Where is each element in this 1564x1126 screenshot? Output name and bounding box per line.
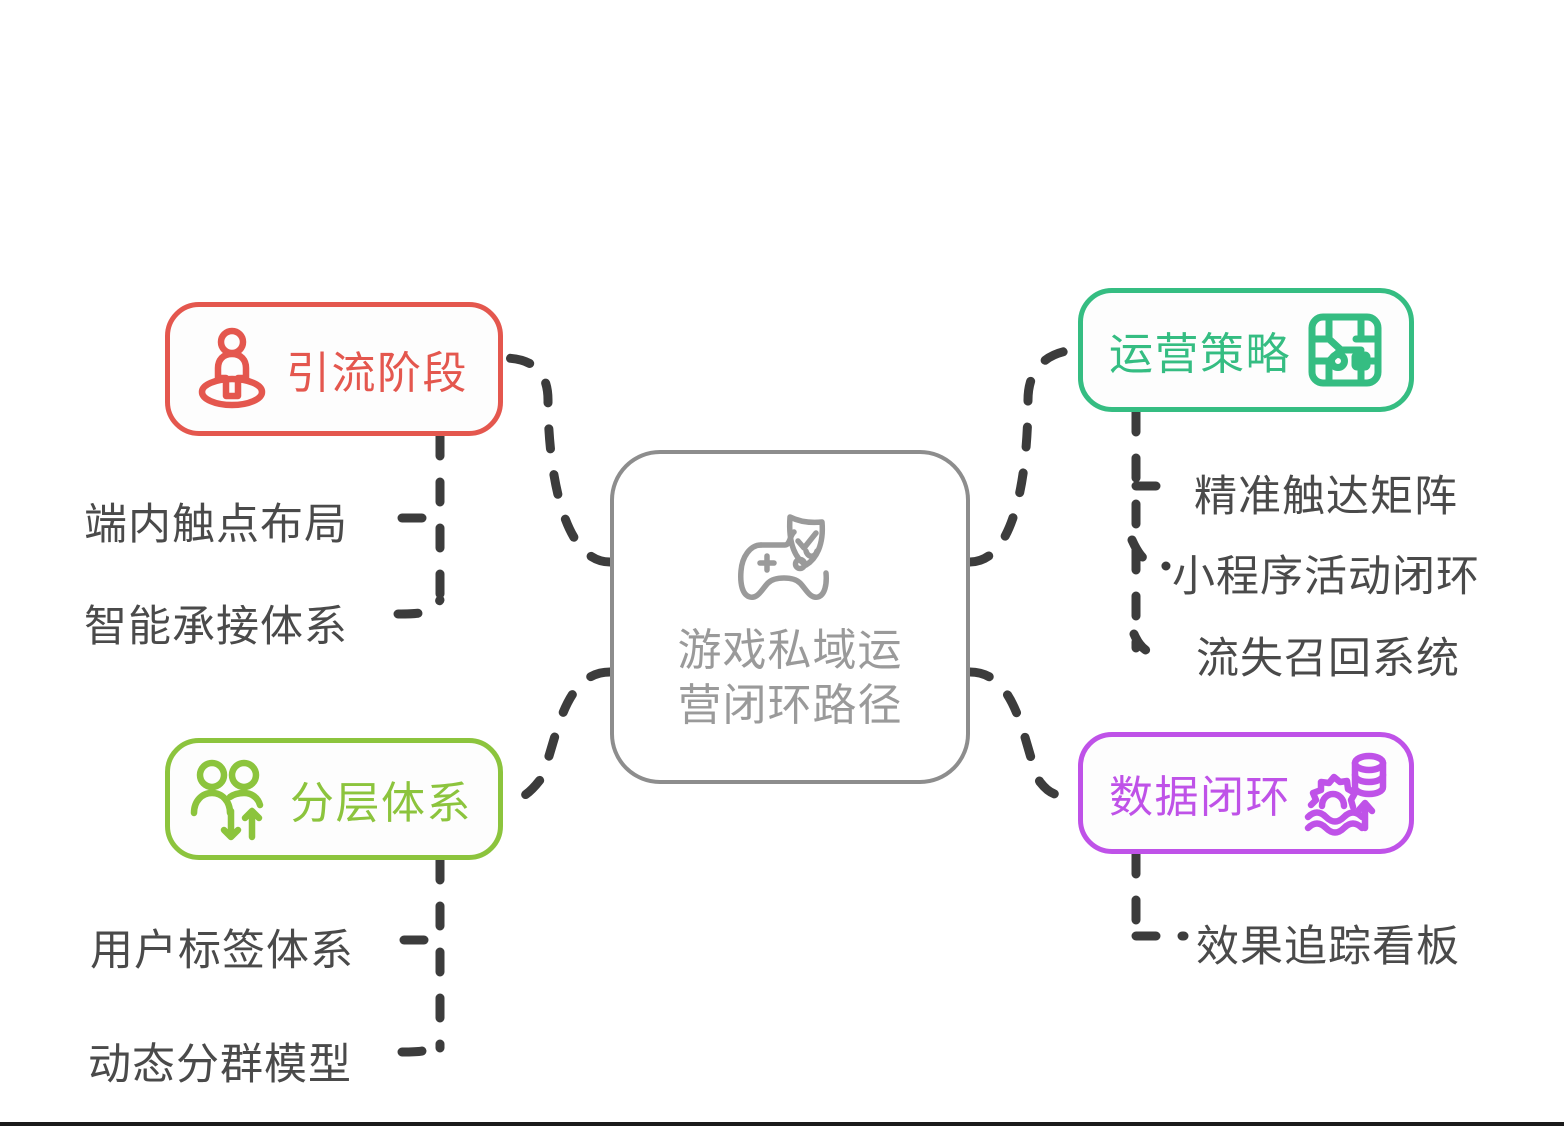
stub-tier-leaf-2 — [402, 1036, 441, 1052]
leaf-label[interactable]: 端内触点布局 — [84, 490, 348, 552]
connector-center-to-tier — [503, 672, 610, 800]
branch-node-data-label: 数据闭环 — [1109, 761, 1291, 825]
person-location-pin-icon — [192, 326, 272, 412]
branch-node-ops[interactable]: 运营策略 — [1078, 288, 1414, 412]
gamepad-shield-check-icon — [728, 501, 852, 618]
mindmap-canvas: 游戏私域运 营闭环路径 引流阶段 分层体系 运营策略 — [0, 0, 1564, 1126]
branch-node-tier[interactable]: 分层体系 — [165, 738, 503, 860]
leaf-label[interactable]: 小程序活动闭环 — [1172, 542, 1480, 604]
database-growth-arrow-icon — [1303, 750, 1391, 836]
center-node[interactable]: 游戏私域运 营闭环路径 — [610, 450, 970, 784]
branch-node-data[interactable]: 数据闭环 — [1078, 732, 1414, 854]
connector-center-to-ops — [970, 350, 1078, 562]
stub-traffic-leaf-2 — [398, 600, 440, 614]
users-sort-arrows-icon — [190, 757, 276, 841]
branch-node-traffic-label: 引流阶段 — [286, 337, 468, 401]
leaf-label[interactable]: 精准触达矩阵 — [1194, 462, 1458, 524]
branch-node-traffic[interactable]: 引流阶段 — [165, 302, 503, 436]
leaf-label[interactable]: 效果追踪看板 — [1196, 912, 1460, 974]
leaf-label[interactable]: 用户标签体系 — [90, 916, 354, 978]
stub-ops-leaf-3 — [1134, 634, 1160, 656]
connector-center-to-traffic — [503, 358, 610, 562]
leaf-label[interactable]: 流失召回系统 — [1196, 624, 1460, 686]
connector-center-to-data — [970, 672, 1078, 795]
center-node-title: 游戏私域运 营闭环路径 — [678, 624, 903, 732]
network-grid-icon — [1307, 312, 1383, 388]
branch-node-tier-label: 分层体系 — [290, 767, 472, 831]
stub-ops-leaf-2 — [1132, 540, 1166, 566]
leaf-label[interactable]: 动态分群模型 — [88, 1030, 352, 1092]
bottom-divider — [0, 1122, 1564, 1126]
leaf-label[interactable]: 智能承接体系 — [84, 592, 348, 654]
branch-node-ops-label: 运营策略 — [1109, 318, 1291, 382]
